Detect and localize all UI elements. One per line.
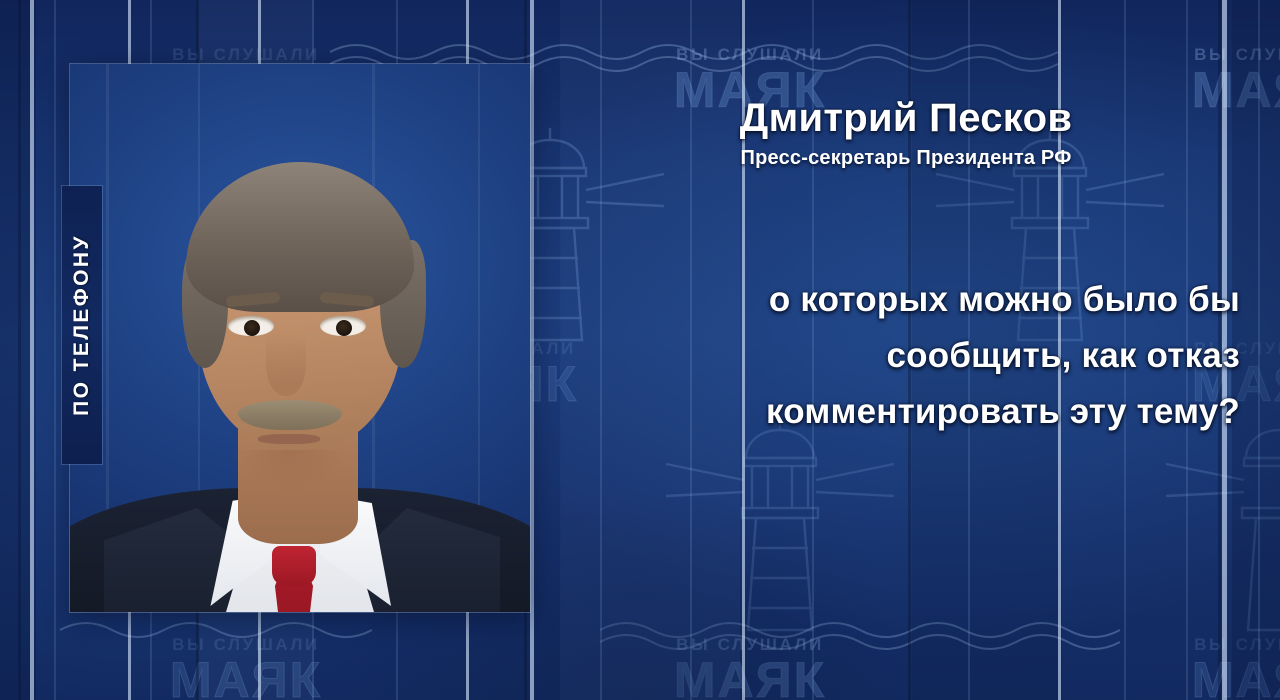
speaker-name-block: Дмитрий Песков Пресс-секретарь Президент… — [556, 96, 1256, 170]
speaker-name: Дмитрий Песков — [556, 96, 1256, 141]
speaker-title: Пресс-секретарь Президента РФ — [556, 147, 1256, 170]
quote-line: сообщить, как отказ — [560, 328, 1240, 384]
broadcast-graphic: ВЫ СЛУШАЛИ МАЯК ВЫ СЛУШАЛИ МАЯК ВЫ СЛУША… — [0, 0, 1280, 700]
speaker-portrait — [70, 64, 530, 612]
quote-line: о которых можно было бы — [560, 272, 1240, 328]
phone-call-label: ПО ТЕЛЕФОНУ — [70, 234, 94, 416]
portrait-image — [70, 64, 530, 612]
quote-line: комментировать эту тему? — [560, 384, 1240, 440]
phone-call-badge: ПО ТЕЛЕФОНУ — [62, 186, 102, 464]
quote-block: о которых можно было бы сообщить, как от… — [560, 272, 1240, 440]
